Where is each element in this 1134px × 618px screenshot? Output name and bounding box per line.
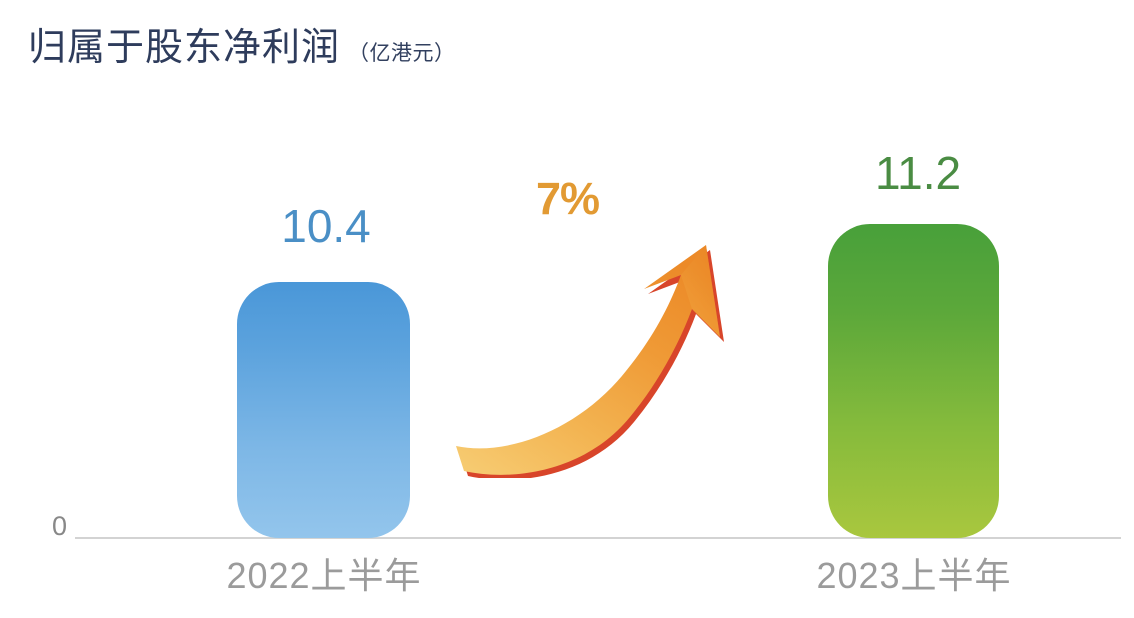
- category-label-2023: 2023上半年: [780, 558, 1048, 594]
- category-label-2022: 2022上半年: [190, 558, 458, 594]
- chart-plot-area: 归属于股东净利润（亿港元） 0 10.4 11.2 7%: [0, 0, 1134, 618]
- growth-arrow-icon: [448, 243, 748, 478]
- axis-zero-label: 0: [52, 513, 67, 540]
- bar-2023[interactable]: [828, 224, 999, 538]
- chart-title-text: 归属于股东净利润: [28, 27, 340, 69]
- bar-value-label-2022: 10.4: [252, 203, 400, 249]
- page-title: 归属于股东净利润（亿港元）: [28, 29, 456, 67]
- chart-title-unit: （亿港元）: [348, 42, 456, 65]
- bar-2022[interactable]: [237, 282, 410, 538]
- growth-rate-label: 7%: [536, 176, 599, 221]
- bar-value-label-2023: 11.2: [848, 150, 988, 196]
